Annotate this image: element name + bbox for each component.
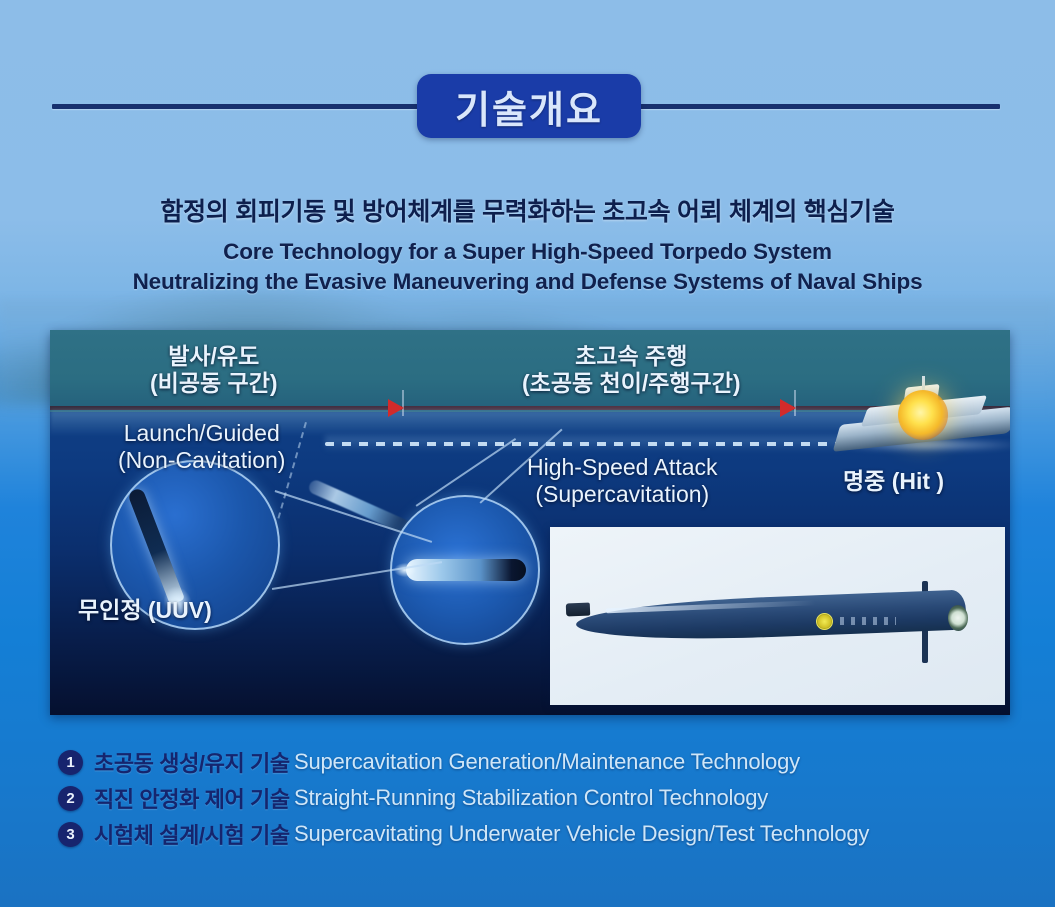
technology-list: 1 초공동 생성/유지 기술 Supercavitation Generatio…	[58, 745, 1008, 853]
torpedo-supercavitating-illustration	[406, 559, 526, 581]
list-item-korean: 초공동 생성/유지 기술	[94, 746, 294, 778]
subtitle-english-line1: Core Technology for a Super High-Speed T…	[0, 239, 1055, 265]
list-item-korean: 시험체 설계/시험 기술	[94, 818, 294, 850]
label-highspeed-ko-line1: 초고속 주행	[522, 343, 741, 370]
torpedo-product-inset	[550, 527, 1005, 705]
supercavitation-trail	[325, 442, 845, 446]
direction-arrow-icon-1	[388, 399, 404, 417]
label-launch-korean: 발사/유도 (비공동 구간)	[150, 343, 278, 397]
torpedo-body	[575, 590, 966, 645]
page-title: 기술개요	[455, 79, 603, 134]
label-launch-english: Launch/Guided (Non-Cavitation)	[118, 420, 285, 474]
list-item-number-badge: 2	[58, 786, 83, 811]
list-item: 2 직진 안정화 제어 기술 Straight-Running Stabiliz…	[58, 781, 1008, 815]
list-item-korean: 직진 안정화 제어 기술	[94, 782, 294, 814]
torpedo-tail-nozzle	[948, 605, 969, 632]
label-launch-en-line2: (Non-Cavitation)	[118, 447, 285, 474]
direction-arrow-icon-2	[780, 399, 796, 417]
list-item-english: Straight-Running Stabilization Control T…	[294, 785, 768, 811]
slide-root: 기술개요 함정의 회피기동 및 방어체계를 무력화하는 초고속 어뢰 체계의 핵…	[0, 0, 1055, 907]
list-item-english: Supercavitation Generation/Maintenance T…	[294, 749, 800, 775]
list-item-english: Supercavitating Underwater Vehicle Desig…	[294, 821, 869, 847]
list-item-number-badge: 3	[58, 822, 83, 847]
label-launch-ko-line1: 발사/유도	[150, 343, 278, 370]
torpedo-markings	[840, 617, 896, 625]
magnifier-inset-supercavitation	[390, 495, 540, 645]
label-highspeed-en-line1: High-Speed Attack	[527, 454, 718, 481]
page-title-badge: 기술개요	[417, 74, 641, 138]
explosion-icon	[898, 390, 948, 440]
list-item-number-badge: 1	[58, 750, 83, 775]
label-highspeed-english: High-Speed Attack (Supercavitation)	[527, 454, 718, 508]
torpedo-launch-illustration	[127, 487, 185, 605]
torpedo-cavitator-nose	[566, 603, 590, 617]
label-launch-en-line1: Launch/Guided	[118, 420, 285, 447]
label-highspeed-ko-line2: (초공동 천이/주행구간)	[522, 370, 741, 397]
subtitle-english-line2: Neutralizing the Evasive Maneuvering and…	[0, 269, 1055, 295]
label-highspeed-en-line2: (Supercavitation)	[527, 481, 718, 508]
list-item: 1 초공동 생성/유지 기술 Supercavitation Generatio…	[58, 745, 1008, 779]
torpedo-emblem-icon	[816, 613, 833, 630]
label-launch-ko-line2: (비공동 구간)	[150, 370, 278, 397]
label-highspeed-korean: 초고속 주행 (초공동 천이/주행구간)	[522, 343, 741, 397]
label-hit: 명중 (Hit )	[843, 468, 953, 495]
label-uuv: 무인정 (UUV)	[78, 597, 212, 624]
subtitle-korean: 함정의 회피기동 및 방어체계를 무력화하는 초고속 어뢰 체계의 핵심기술	[0, 192, 1055, 228]
list-item: 3 시험체 설계/시험 기술 Supercavitating Underwate…	[58, 817, 1008, 851]
